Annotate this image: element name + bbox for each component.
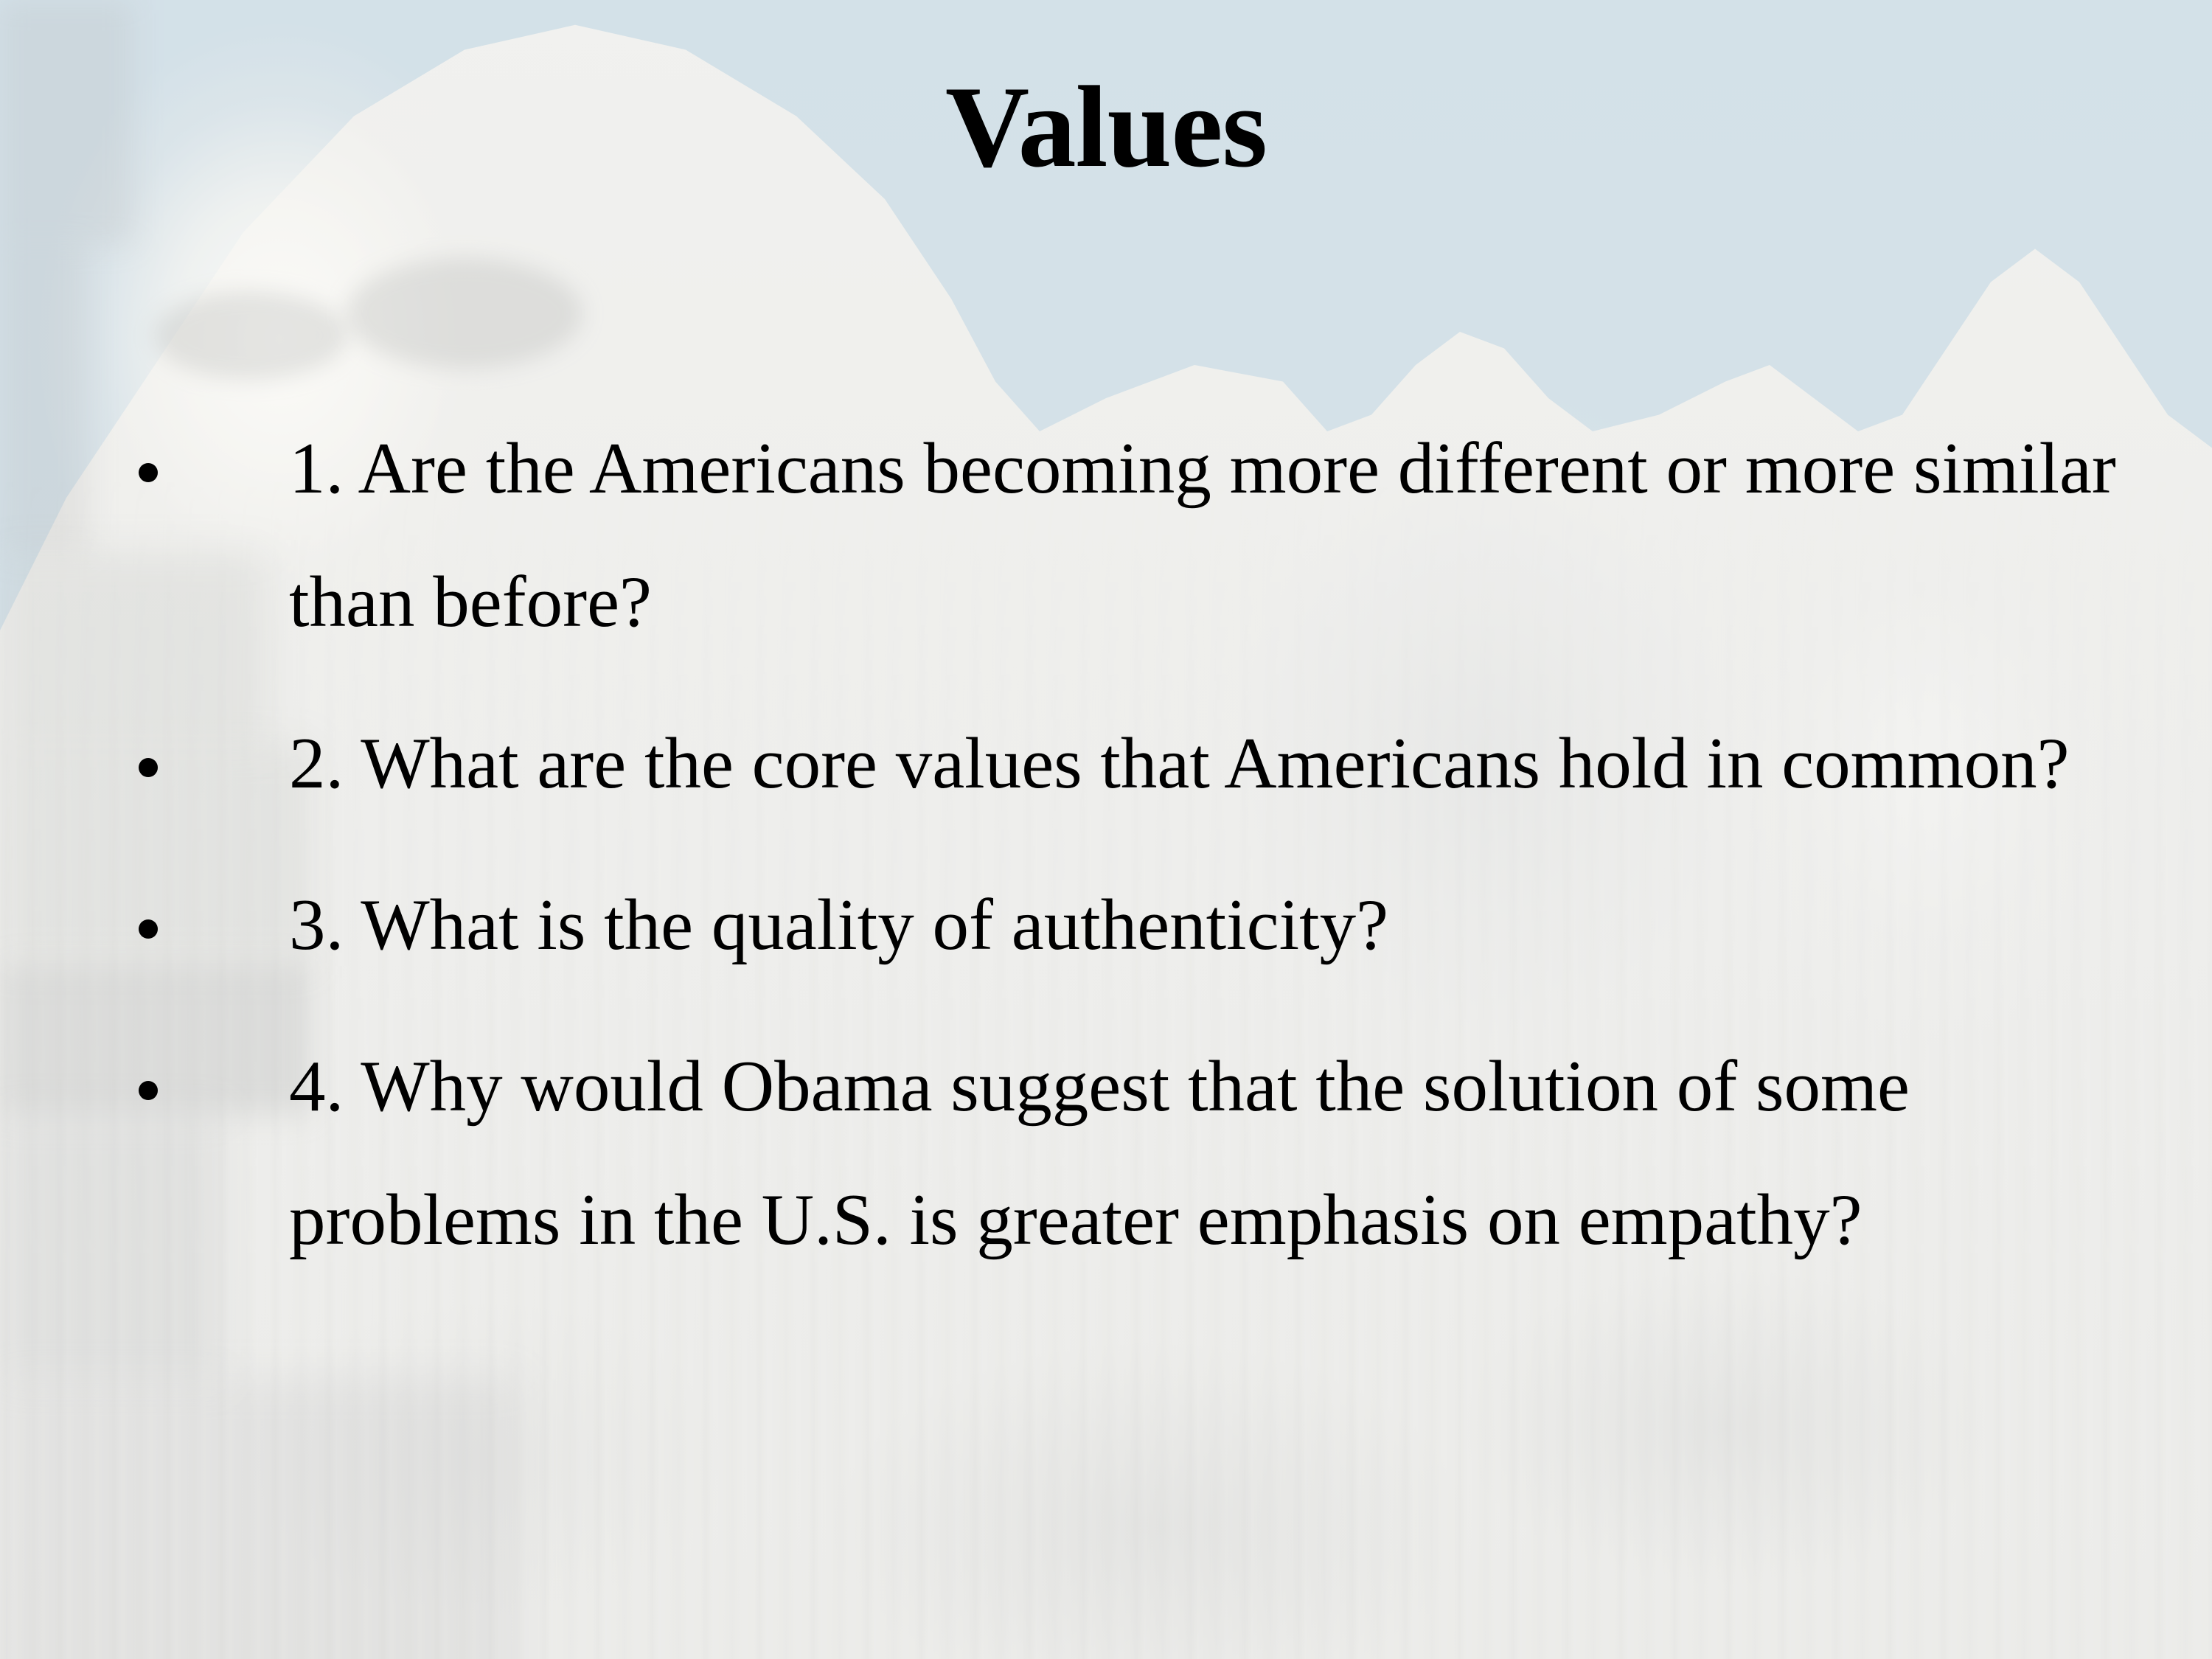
slide-content: Values 1. Are the Americans becoming mor… <box>0 0 2212 1659</box>
bullet-item-2-text: 2. What are the core values that America… <box>289 697 2183 830</box>
bullet-item-1-text: 1. Are the Americans becoming more diffe… <box>289 402 2183 669</box>
bullet-item-3: 3. What is the quality of authenticity? <box>125 858 2183 992</box>
bullet-dot-icon <box>139 858 159 992</box>
slide-title: Values <box>0 65 2212 191</box>
presentation-slide: Values 1. Are the Americans becoming mor… <box>0 0 2212 1659</box>
bullet-item-1: 1. Are the Americans becoming more diffe… <box>125 402 2183 669</box>
bullet-list: 1. Are the Americans becoming more diffe… <box>125 402 2183 1315</box>
bullet-dot-icon <box>139 697 159 830</box>
bullet-item-2: 2. What are the core values that America… <box>125 697 2183 830</box>
bullet-item-3-text: 3. What is the quality of authenticity? <box>289 858 2183 992</box>
bullet-dot-icon <box>139 1020 159 1153</box>
bullet-dot-icon <box>139 402 159 535</box>
bullet-item-4: 4. Why would Obama suggest that the solu… <box>125 1020 2183 1287</box>
bullet-item-4-text: 4. Why would Obama suggest that the solu… <box>289 1020 2183 1287</box>
